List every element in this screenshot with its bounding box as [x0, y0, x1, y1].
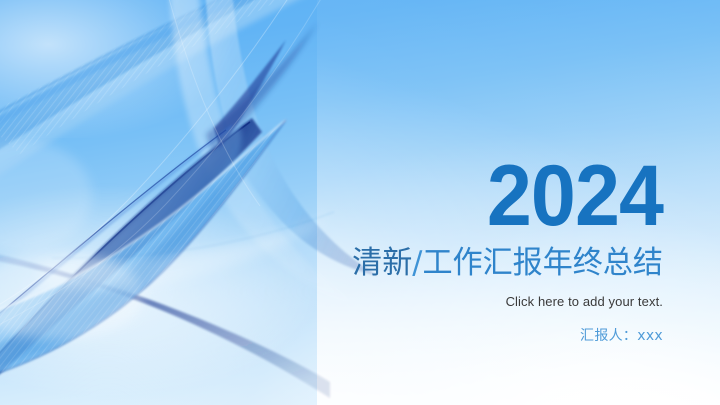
page-title-segment-a: 清新: [352, 245, 412, 281]
year-heading: 2024: [353, 160, 663, 234]
title-text-block: 2024 清新/工作汇报年终总结 Click here to add your …: [333, 160, 663, 345]
presenter-label[interactable]: 汇报人：xxx: [333, 325, 663, 345]
page-title-segment-b: 工作汇报年终总结: [422, 245, 663, 281]
title-slide: 2024 清新/工作汇报年终总结 Click here to add your …: [0, 0, 720, 405]
page-title: 清新/工作汇报年终总结: [343, 246, 663, 281]
page-title-separator: /: [412, 245, 422, 281]
tagline-placeholder-text[interactable]: Click here to add your text.: [333, 294, 663, 310]
